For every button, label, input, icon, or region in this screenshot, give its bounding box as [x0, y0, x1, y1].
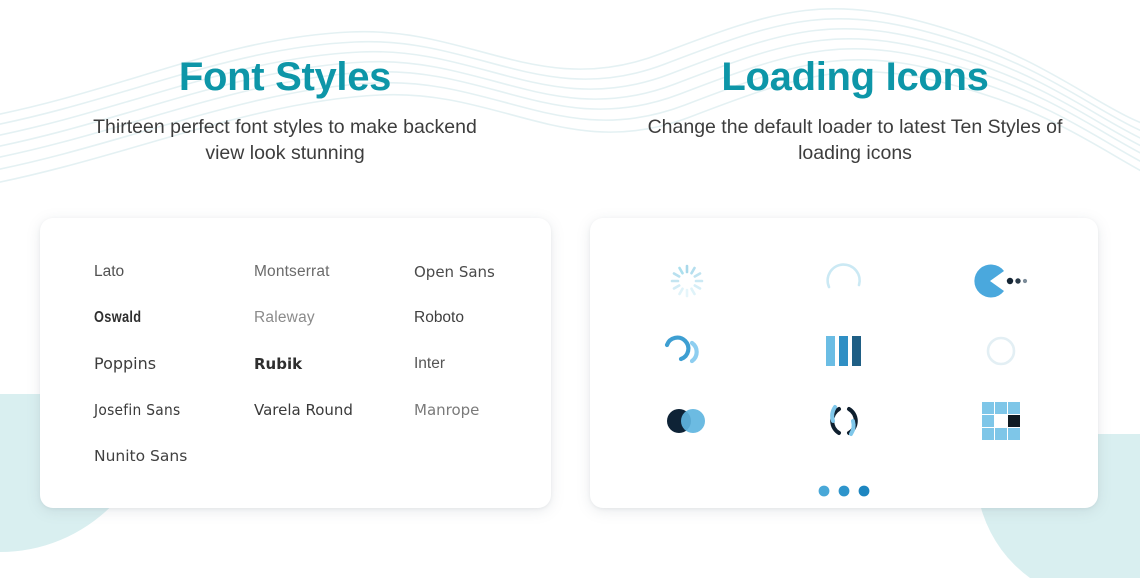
- loading-icons-grid: [590, 218, 1098, 526]
- subtitle-font-styles: Thirteen perfect font styles to make bac…: [75, 114, 495, 167]
- font-sample-varela-round: Varela Round: [254, 398, 414, 422]
- spinner-ticks-icon: [655, 249, 719, 313]
- font-sample-inter: Inter: [414, 352, 574, 376]
- page-root: Font Styles Thirteen perfect font styles…: [0, 0, 1140, 578]
- font-sample-josefin-sans: Josefin Sans: [94, 398, 241, 422]
- ring-outline-icon: [969, 319, 1033, 383]
- font-sample-roboto: Roboto: [414, 306, 574, 330]
- font-styles-header: Font Styles Thirteen perfect font styles…: [0, 0, 570, 167]
- pacman-dots-icon: [969, 249, 1033, 313]
- spinner-arc-icon: [812, 249, 876, 313]
- font-sample-nunito-sans: Nunito Sans: [94, 444, 254, 468]
- font-sample-oswald: Oswald: [94, 306, 222, 330]
- three-bars-icon: [812, 319, 876, 383]
- font-styles-card: LatoMontserratOpen SansOswaldRalewayRobo…: [40, 218, 551, 508]
- page-title-font-styles: Font Styles: [0, 56, 570, 98]
- font-styles-column: Font Styles Thirteen perfect font styles…: [0, 0, 570, 578]
- font-sample-montserrat: Montserrat: [254, 260, 414, 284]
- bracket-arcs-icon: [812, 389, 876, 453]
- loading-icons-header: Loading Icons Change the default loader …: [570, 0, 1140, 167]
- loading-icons-column: Loading Icons Change the default loader …: [570, 0, 1140, 578]
- loading-icons-card: [590, 218, 1098, 508]
- font-sample-lato: Lato: [94, 260, 254, 284]
- page-title-loading-icons: Loading Icons: [570, 56, 1140, 98]
- font-sample-rubik: Rubik: [254, 352, 414, 376]
- subtitle-loading-icons: Change the default loader to latest Ten …: [645, 114, 1065, 167]
- two-circles-icon: [655, 389, 719, 453]
- three-dots-icon: [812, 459, 876, 523]
- double-curve-icon: [655, 319, 719, 383]
- font-sample-manrope: Manrope: [414, 398, 574, 422]
- font-sample-open-sans: Open Sans: [414, 260, 574, 284]
- font-sample-poppins: Poppins: [94, 352, 254, 376]
- font-list-grid: LatoMontserratOpen SansOswaldRalewayRobo…: [40, 218, 551, 468]
- font-sample-raleway: Raleway: [254, 306, 414, 330]
- grid-squares-icon: [969, 389, 1033, 453]
